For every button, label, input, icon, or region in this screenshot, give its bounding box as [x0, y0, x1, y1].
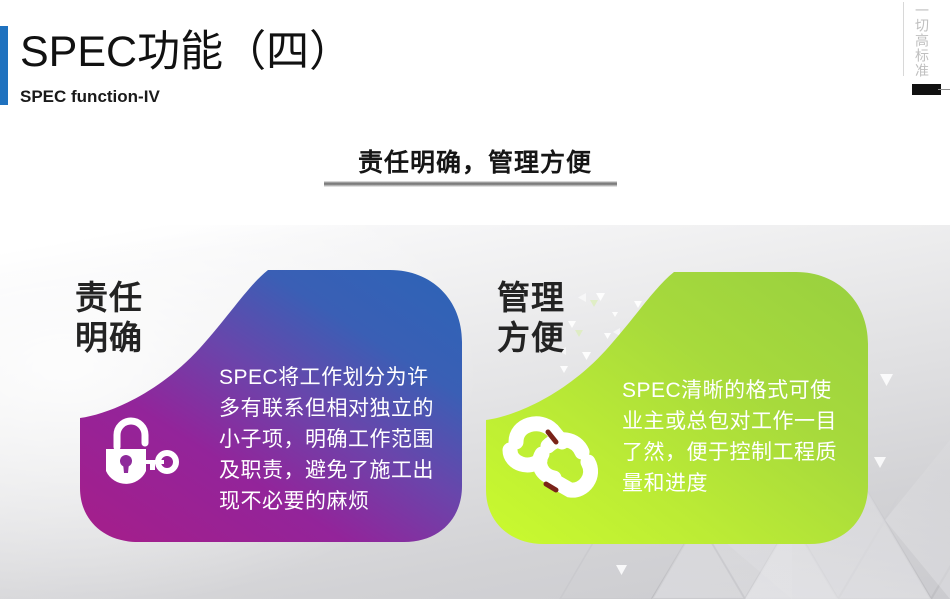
- card-label-line-2: 方便: [497, 318, 565, 358]
- card-label-responsibility: 责任 明确: [75, 278, 143, 358]
- chain-link-icon: [496, 404, 608, 510]
- card-body-responsibility: SPEC将工作划分为许多有联系但相对独立的小子项，明确工作范围及职责，避免了施工…: [219, 362, 447, 517]
- card-label-line-1: 责任: [75, 278, 143, 318]
- card-label-line-1: 管理: [497, 278, 565, 318]
- slide-canvas: SPEC功能（四） SPEC function-IV 一切高标准 责任明确，管理…: [0, 0, 950, 599]
- card-label-management: 管理 方便: [497, 278, 565, 358]
- padlock-key-icon: [98, 413, 182, 493]
- card-body-management: SPEC清晰的格式可使业主或总包对工作一目了然，便于控制工程质量和进度: [622, 375, 844, 499]
- card-label-line-2: 明确: [75, 318, 143, 358]
